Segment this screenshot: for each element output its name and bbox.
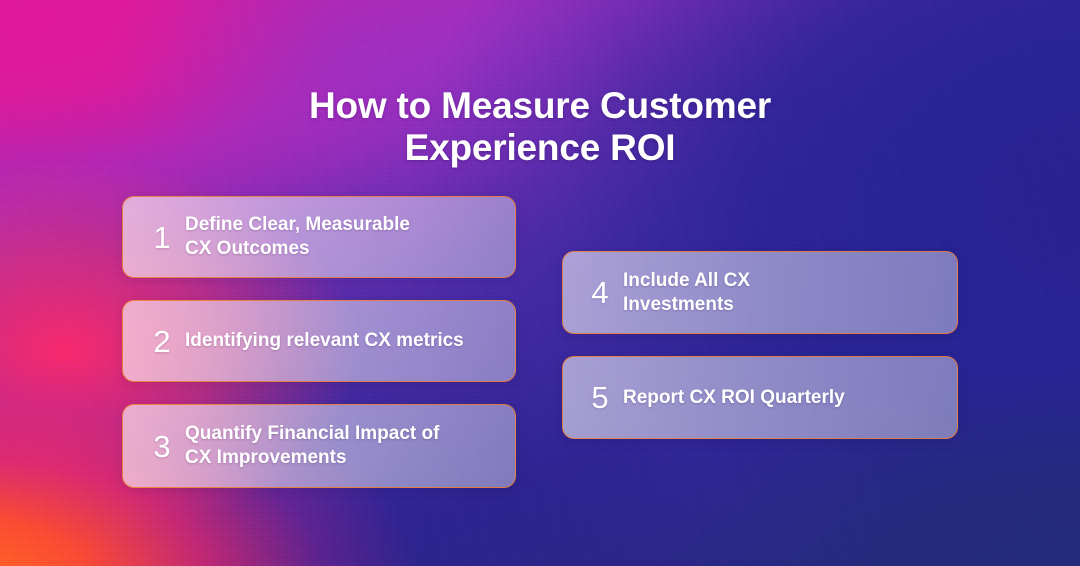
step-number-5: 5	[577, 382, 623, 413]
step-label-2: Identifying relevant CX metrics	[185, 329, 515, 353]
step-label-3-line-1: Quantify Financial Impact of	[185, 423, 439, 444]
step-label-4: Include All CX Investments	[623, 269, 957, 317]
step-label-3: Quantify Financial Impact of CX Improvem…	[185, 422, 515, 470]
step-label-4-line-1: Include All CX	[623, 270, 750, 291]
page-title-line-1: How to Measure Customer	[0, 85, 1080, 127]
step-number-2: 2	[139, 326, 185, 357]
step-label-3-line-2: CX Improvements	[185, 447, 347, 468]
step-label-5: Report CX ROI Quarterly	[623, 386, 957, 410]
step-number-3: 3	[139, 431, 185, 462]
page-title: How to Measure Customer Experience ROI	[0, 85, 1080, 169]
step-card-3[interactable]: 3 Quantify Financial Impact of CX Improv…	[122, 404, 516, 488]
step-label-4-line-2: Investments	[623, 294, 734, 315]
step-number-1: 1	[139, 222, 185, 253]
step-label-1-line-2: CX Outcomes	[185, 238, 310, 259]
step-number-4: 4	[577, 277, 623, 308]
step-card-2[interactable]: 2 Identifying relevant CX metrics	[122, 300, 516, 382]
page-title-line-2: Experience ROI	[0, 127, 1080, 169]
step-label-1-line-1: Define Clear, Measurable	[185, 214, 410, 235]
step-card-4[interactable]: 4 Include All CX Investments	[562, 251, 958, 334]
step-card-5[interactable]: 5 Report CX ROI Quarterly	[562, 356, 958, 439]
step-label-1: Define Clear, Measurable CX Outcomes	[185, 213, 515, 261]
infographic-canvas: How to Measure Customer Experience ROI 1…	[0, 0, 1080, 566]
step-card-1[interactable]: 1 Define Clear, Measurable CX Outcomes	[122, 196, 516, 278]
